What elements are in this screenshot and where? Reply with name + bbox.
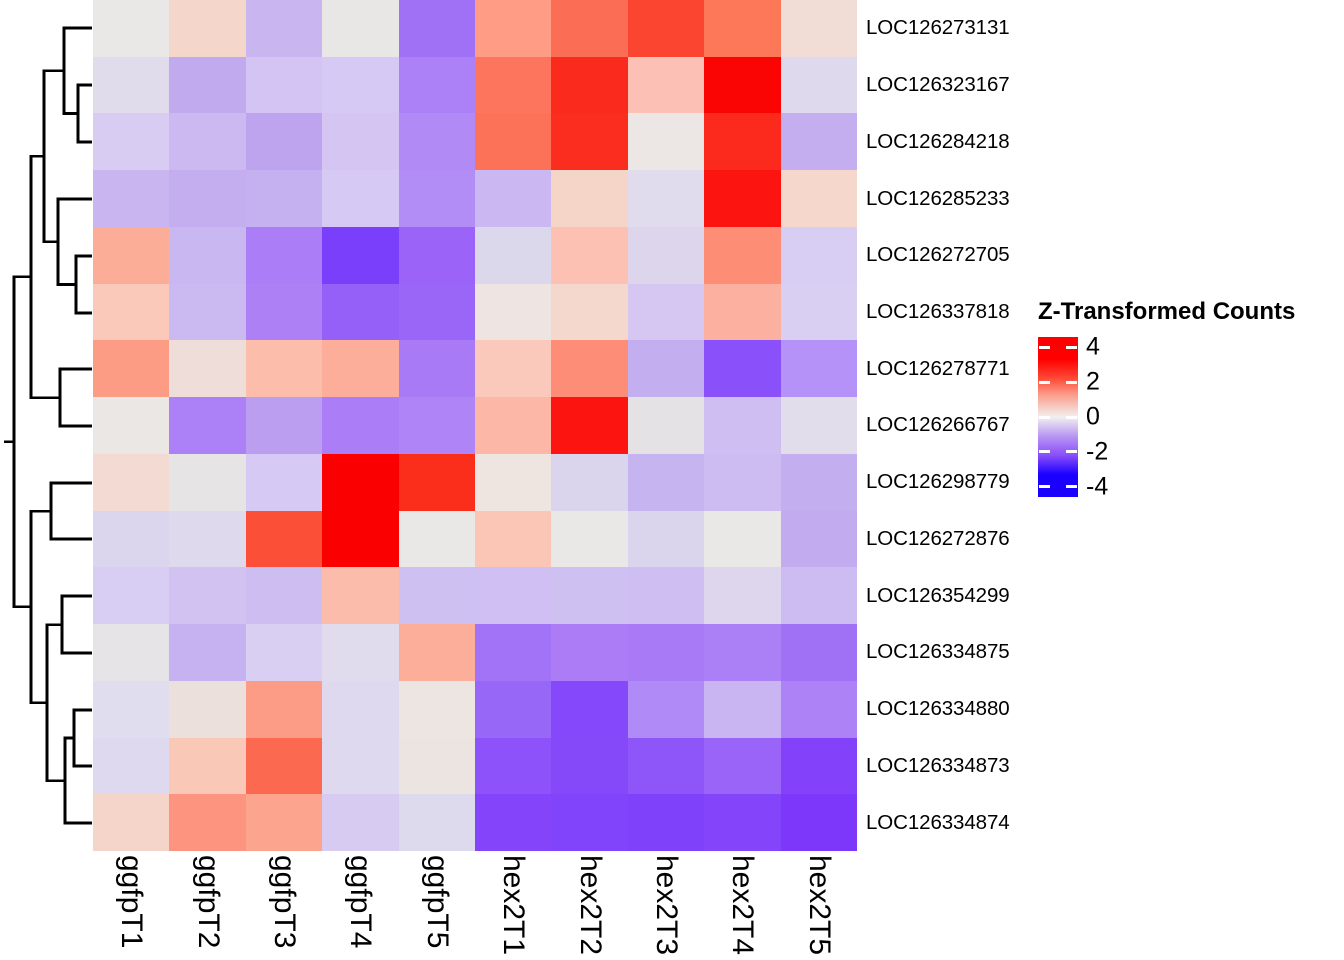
- row-label: LOC126266767: [866, 397, 1036, 454]
- heatmap-cell: [246, 738, 322, 795]
- heatmap-cell: [93, 738, 169, 795]
- heatmap-cell: [704, 113, 780, 170]
- heatmap-cell: [399, 567, 475, 624]
- column-label-slot: ggfpT5: [399, 851, 475, 960]
- heatmap-cell: [704, 511, 780, 568]
- heatmap-cell: [781, 340, 857, 397]
- heatmap-cell: [704, 567, 780, 624]
- heatmap-cell: [704, 227, 780, 284]
- legend-colorbar-wrap: 420-2-4: [1038, 337, 1078, 497]
- heatmap-cell: [399, 397, 475, 454]
- column-label-slot: hex2T3: [628, 851, 704, 960]
- heatmap-cell: [475, 113, 551, 170]
- heatmap-cell: [93, 511, 169, 568]
- heatmap-cell: [781, 738, 857, 795]
- heatmap-cell: [169, 340, 245, 397]
- heatmap-cell: [781, 454, 857, 511]
- heatmap-cell: [628, 57, 704, 114]
- heatmap-cell: [781, 794, 857, 851]
- heatmap-grid: [93, 0, 857, 851]
- heatmap-cell: [322, 397, 398, 454]
- heatmap-cell: [704, 681, 780, 738]
- heatmap-cell: [169, 0, 245, 57]
- heatmap-cell: [246, 170, 322, 227]
- column-label-slot: hex2T2: [551, 851, 627, 960]
- heatmap-cell: [704, 397, 780, 454]
- heatmap-cell: [399, 681, 475, 738]
- legend-tick-mark: [1039, 416, 1050, 419]
- heatmap-cell: [399, 57, 475, 114]
- heatmap-cell: [551, 227, 627, 284]
- column-label-slot: ggfpT1: [93, 851, 169, 960]
- heatmap-cell: [475, 397, 551, 454]
- heatmap-cell: [551, 567, 627, 624]
- heatmap-cell: [628, 624, 704, 681]
- column-label-slot: ggfpT2: [169, 851, 245, 960]
- heatmap-cell: [322, 340, 398, 397]
- heatmap-cell: [781, 567, 857, 624]
- heatmap-cell: [246, 57, 322, 114]
- heatmap-cell: [781, 284, 857, 341]
- heatmap-cell: [475, 681, 551, 738]
- row-label: LOC126334874: [866, 794, 1036, 851]
- heatmap-cell: [169, 794, 245, 851]
- column-label: hex2T4: [727, 855, 757, 955]
- heatmap-cell: [93, 0, 169, 57]
- legend-tick-mark: [1066, 381, 1077, 384]
- heatmap-cell: [322, 227, 398, 284]
- heatmap-cell: [399, 227, 475, 284]
- heatmap-cell: [704, 57, 780, 114]
- heatmap-cell: [322, 738, 398, 795]
- heatmap-cell: [475, 0, 551, 57]
- heatmap-cell: [551, 340, 627, 397]
- heatmap-cell: [246, 113, 322, 170]
- heatmap-cell: [169, 170, 245, 227]
- heatmap-cell: [93, 113, 169, 170]
- heatmap-cell: [93, 340, 169, 397]
- heatmap-cell: [475, 284, 551, 341]
- row-label: LOC126278771: [866, 340, 1036, 397]
- color-legend: Z-Transformed Counts 420-2-4: [1034, 298, 1334, 513]
- column-label-slot: hex2T4: [704, 851, 780, 960]
- heatmap-cell: [704, 0, 780, 57]
- row-label: LOC126284218: [866, 113, 1036, 170]
- heatmap-cell: [475, 170, 551, 227]
- legend-tick-mark: [1039, 381, 1050, 384]
- legend-tick-label: -2: [1086, 437, 1108, 466]
- heatmap-cell: [246, 454, 322, 511]
- heatmap-cell: [781, 57, 857, 114]
- heatmap-cell: [781, 0, 857, 57]
- column-label: hex2T5: [804, 855, 834, 955]
- heatmap-cell: [551, 624, 627, 681]
- heatmap-cell: [93, 794, 169, 851]
- heatmap-cell: [93, 170, 169, 227]
- legend-tick-mark: [1039, 485, 1050, 488]
- heatmap-cell: [628, 454, 704, 511]
- heatmap-cell: [551, 170, 627, 227]
- heatmap-cell: [93, 454, 169, 511]
- heatmap-cell: [246, 511, 322, 568]
- heatmap-cell: [704, 794, 780, 851]
- heatmap-cell: [551, 0, 627, 57]
- heatmap-cell: [399, 738, 475, 795]
- column-label-slot: hex2T5: [781, 851, 857, 960]
- heatmap-cell: [781, 681, 857, 738]
- heatmap-cell: [628, 284, 704, 341]
- legend-tick-mark: [1066, 485, 1077, 488]
- heatmap-cell: [93, 284, 169, 341]
- heatmap-cell: [246, 0, 322, 57]
- heatmap-cell: [628, 511, 704, 568]
- heatmap-cell: [169, 738, 245, 795]
- heatmap-cell: [93, 567, 169, 624]
- heatmap-cell: [399, 0, 475, 57]
- heatmap-cell: [169, 57, 245, 114]
- legend-tick-label: 0: [1086, 403, 1100, 432]
- row-label: LOC126337818: [866, 284, 1036, 341]
- heatmap-cell: [246, 227, 322, 284]
- heatmap-cell: [246, 340, 322, 397]
- row-label: LOC126354299: [866, 567, 1036, 624]
- heatmap-cell: [93, 57, 169, 114]
- heatmap-cell: [628, 567, 704, 624]
- row-label: LOC126272876: [866, 511, 1036, 568]
- heatmap-figure: LOC126273131LOC126323167LOC126284218LOC1…: [0, 0, 1344, 960]
- heatmap-cell: [322, 113, 398, 170]
- heatmap-cell: [169, 681, 245, 738]
- legend-tick-label: 4: [1086, 333, 1100, 362]
- heatmap-cell: [169, 113, 245, 170]
- heatmap-cell: [704, 738, 780, 795]
- heatmap-cell: [93, 624, 169, 681]
- heatmap-cell: [322, 57, 398, 114]
- heatmap-cell: [628, 113, 704, 170]
- heatmap-cell: [399, 170, 475, 227]
- heatmap-cell: [322, 0, 398, 57]
- heatmap-cell: [628, 397, 704, 454]
- heatmap-cell: [551, 284, 627, 341]
- row-label: LOC126285233: [866, 170, 1036, 227]
- row-label: LOC126273131: [866, 0, 1036, 57]
- heatmap-cell: [704, 340, 780, 397]
- heatmap-cell: [399, 113, 475, 170]
- heatmap-cell: [93, 681, 169, 738]
- column-label: hex2T1: [498, 855, 528, 955]
- legend-tick-mark: [1039, 450, 1050, 453]
- legend-tick-label: 2: [1086, 368, 1100, 397]
- row-label: LOC126272705: [866, 227, 1036, 284]
- heatmap-cell: [322, 170, 398, 227]
- heatmap-cell: [628, 227, 704, 284]
- heatmap-cell: [551, 794, 627, 851]
- heatmap-cell: [322, 624, 398, 681]
- heatmap-cell: [628, 794, 704, 851]
- heatmap-cell: [169, 454, 245, 511]
- heatmap-cell: [322, 511, 398, 568]
- column-label-slot: hex2T1: [475, 851, 551, 960]
- row-label: LOC126334873: [866, 738, 1036, 795]
- column-label: ggfpT2: [193, 855, 223, 948]
- column-label: ggfpT3: [269, 855, 299, 948]
- heatmap-cell: [704, 170, 780, 227]
- legend-tick-mark: [1066, 416, 1077, 419]
- column-label: ggfpT5: [422, 855, 452, 948]
- heatmap-cell: [475, 454, 551, 511]
- heatmap-cell: [246, 624, 322, 681]
- heatmap-cell: [246, 397, 322, 454]
- heatmap-cell: [475, 57, 551, 114]
- row-label: LOC126334875: [866, 624, 1036, 681]
- column-label-slot: ggfpT4: [322, 851, 398, 960]
- heatmap-cell: [781, 227, 857, 284]
- heatmap-cell: [399, 340, 475, 397]
- legend-tick-mark: [1066, 346, 1077, 349]
- heatmap-cell: [322, 454, 398, 511]
- heatmap-cell: [628, 340, 704, 397]
- heatmap-cell: [781, 624, 857, 681]
- heatmap-cell: [475, 227, 551, 284]
- heatmap-cell: [322, 567, 398, 624]
- row-label: LOC126334880: [866, 681, 1036, 738]
- heatmap-cell: [169, 227, 245, 284]
- heatmap-cell: [704, 284, 780, 341]
- heatmap-cell: [399, 511, 475, 568]
- heatmap-cell: [475, 340, 551, 397]
- heatmap-cell: [628, 0, 704, 57]
- heatmap-cell: [781, 170, 857, 227]
- heatmap-cell: [169, 511, 245, 568]
- legend-tick-label: -4: [1086, 472, 1108, 501]
- heatmap-cell: [475, 794, 551, 851]
- heatmap-cell: [551, 681, 627, 738]
- heatmap-cell: [551, 113, 627, 170]
- heatmap-cell: [246, 794, 322, 851]
- heatmap-cell: [322, 284, 398, 341]
- heatmap-cell: [628, 170, 704, 227]
- row-label: LOC126298779: [866, 454, 1036, 511]
- heatmap-cell: [551, 397, 627, 454]
- heatmap-cell: [704, 624, 780, 681]
- row-label: LOC126323167: [866, 57, 1036, 114]
- heatmap-cell: [169, 624, 245, 681]
- column-label-slot: ggfpT3: [246, 851, 322, 960]
- heatmap-cell: [169, 397, 245, 454]
- heatmap-cell: [628, 681, 704, 738]
- row-label-axis: LOC126273131LOC126323167LOC126284218LOC1…: [866, 0, 1036, 851]
- legend-title: Z-Transformed Counts: [1038, 298, 1295, 326]
- legend-tick-mark: [1039, 346, 1050, 349]
- heatmap-cell: [781, 113, 857, 170]
- heatmap-cell: [246, 681, 322, 738]
- heatmap-cell: [551, 738, 627, 795]
- heatmap-cell: [551, 454, 627, 511]
- heatmap-cell: [551, 57, 627, 114]
- heatmap-cell: [322, 681, 398, 738]
- column-label: hex2T3: [651, 855, 681, 955]
- heatmap-cell: [246, 567, 322, 624]
- heatmap-cell: [93, 397, 169, 454]
- heatmap-cell: [475, 624, 551, 681]
- heatmap-cell: [246, 284, 322, 341]
- heatmap-cell: [93, 227, 169, 284]
- heatmap-cell: [399, 284, 475, 341]
- heatmap-cell: [781, 511, 857, 568]
- heatmap-cell: [551, 511, 627, 568]
- heatmap-cell: [781, 397, 857, 454]
- heatmap-cell: [399, 624, 475, 681]
- heatmap-cell: [475, 511, 551, 568]
- column-label: hex2T2: [575, 855, 605, 955]
- heatmap-cell: [399, 454, 475, 511]
- heatmap-cell: [475, 738, 551, 795]
- column-label: ggfpT1: [116, 855, 146, 948]
- heatmap-cell: [475, 567, 551, 624]
- heatmap-cell: [628, 738, 704, 795]
- heatmap-cell: [169, 567, 245, 624]
- column-label-axis: ggfpT1ggfpT2ggfpT3ggfpT4ggfpT5hex2T1hex2…: [93, 851, 857, 960]
- heatmap-cell: [399, 794, 475, 851]
- heatmap-cell: [169, 284, 245, 341]
- row-dendrogram: [0, 0, 92, 851]
- heatmap-cell: [322, 794, 398, 851]
- column-label: ggfpT4: [345, 855, 375, 948]
- heatmap-cell: [704, 454, 780, 511]
- legend-tick-mark: [1066, 450, 1077, 453]
